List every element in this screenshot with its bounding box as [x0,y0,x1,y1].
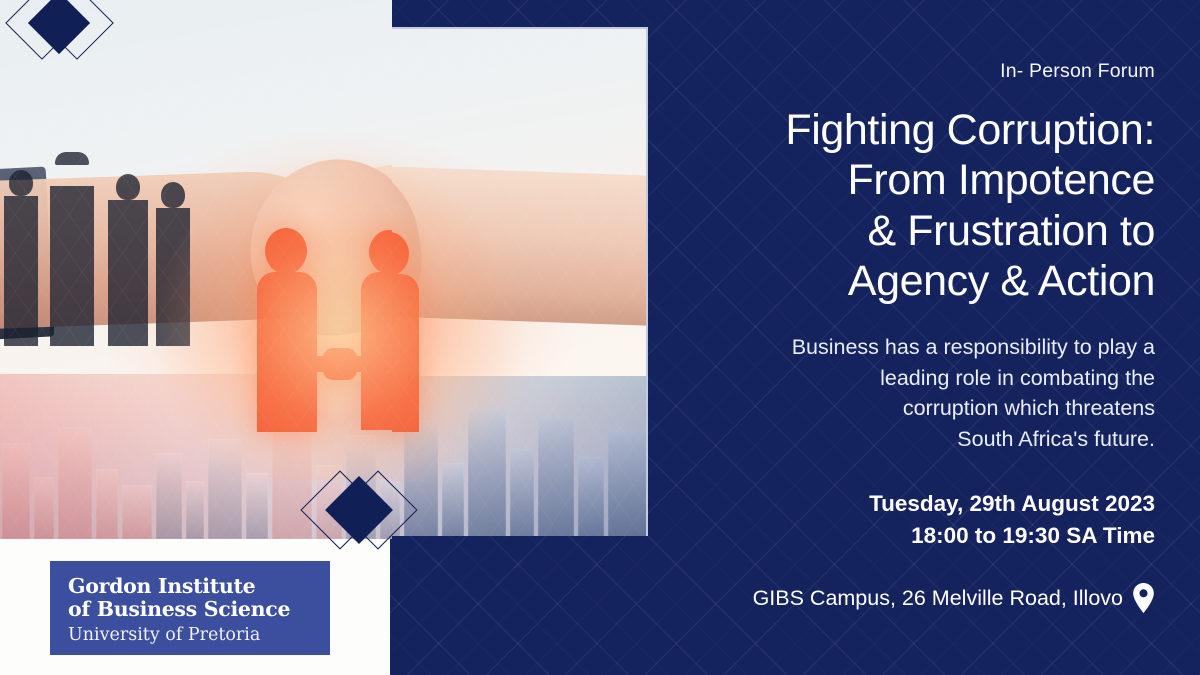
gibs-logo: Gordon Institute of Business Science Uni… [50,561,330,655]
logo-line-3: University of Pretoria [68,625,330,646]
event-description: Business has a responsibility to play a … [648,332,1155,454]
event-poster: Gordon Institute of Business Science Uni… [0,0,1200,675]
photo-artwork-continued [392,27,648,536]
description-line: leading role in combating the [648,363,1155,394]
headline-line: Agency & Action [648,256,1155,306]
photo-orange-handshake-silhouette-2 [392,230,443,435]
headline-line: & Frustration to [648,206,1155,256]
description-line: Business has a responsibility to play a [648,332,1155,363]
handshake-photo-left [0,0,392,539]
headline-line: Fighting Corruption: [648,105,1155,155]
diamond-motif-top-left [4,0,114,70]
logo-line-2: of Business Science [68,598,330,621]
event-datetime: Tuesday, 29th August 2023 18:00 to 19:30… [648,488,1155,551]
handshake-photo-inset [392,27,648,536]
event-kicker: In- Person Forum [648,60,1155,83]
logo-line-1: Gordon Institute [68,575,330,598]
photo-artwork [0,0,392,539]
event-date: Tuesday, 29th August 2023 [648,488,1155,520]
description-line: corruption which threatens [648,393,1155,424]
poster-content: In- Person Forum Fighting Corruption: Fr… [648,0,1200,675]
event-venue: GIBS Campus, 26 Melville Road, Illovo [648,583,1155,613]
location-pin-icon [1132,583,1155,613]
diamond-motif-middle [299,474,415,566]
venue-label: GIBS Campus, 26 Melville Road, Illovo [753,586,1123,611]
photo-people-silhouettes [4,176,194,346]
headline-line: From Impotence [648,155,1155,205]
description-line: South Africa's future. [648,424,1155,455]
page-title: Fighting Corruption: From Impotence & Fr… [648,105,1155,306]
photo-orange-handshake-silhouette [243,228,392,433]
event-time: 18:00 to 19:30 SA Time [648,520,1155,552]
